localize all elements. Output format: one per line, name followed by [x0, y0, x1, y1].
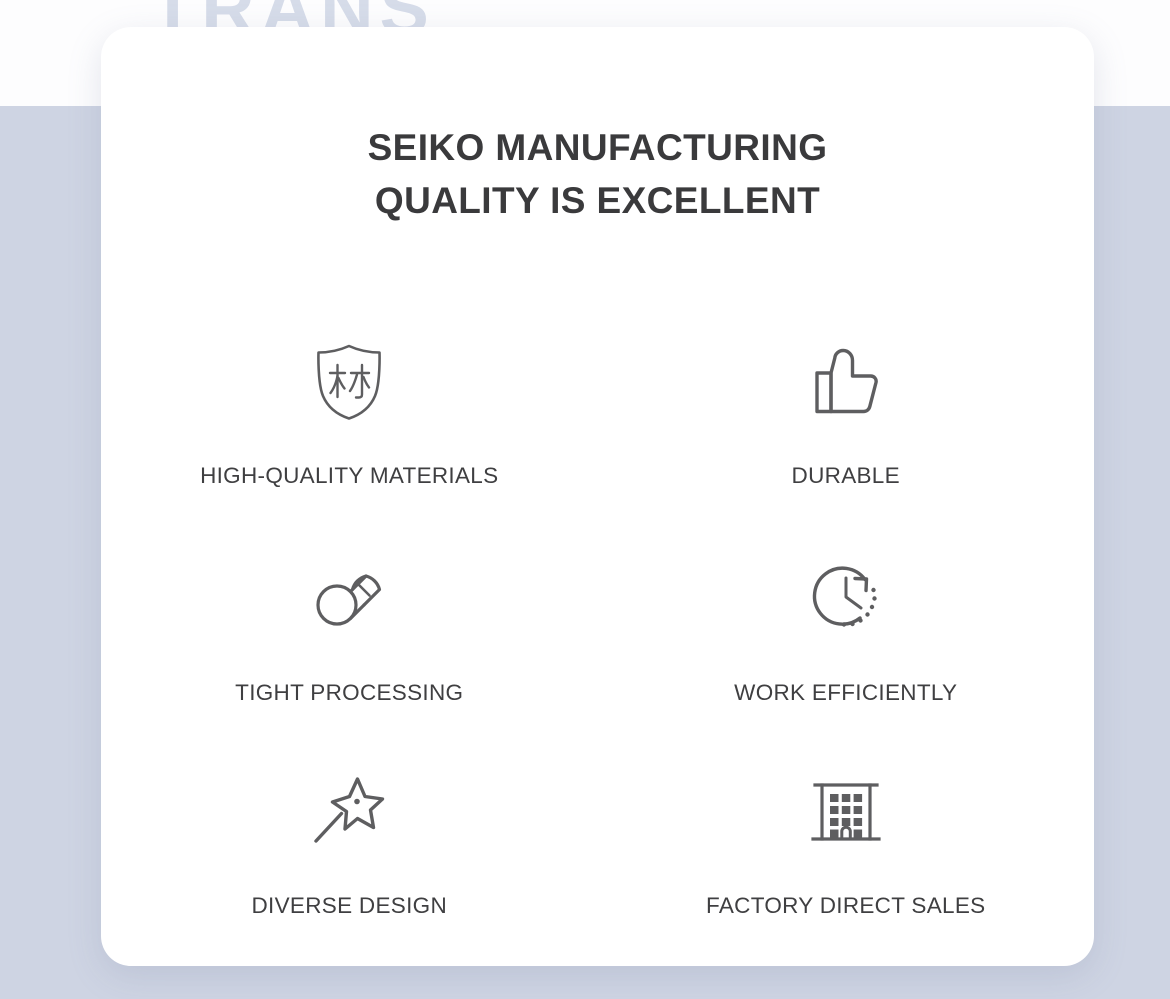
feature-item-high-quality-materials[interactable]: HIGH-QUALITY MATERIALS — [101, 327, 598, 542]
feature-label: TIGHT PROCESSING — [235, 680, 463, 706]
feature-grid: HIGH-QUALITY MATERIALS DURABLE — [101, 327, 1094, 966]
feature-item-factory-direct-sales[interactable]: FACTORY DIRECT SALES — [598, 757, 1095, 966]
magic-wand-star-icon — [308, 771, 390, 853]
feature-label: HIGH-QUALITY MATERIALS — [200, 463, 498, 489]
cylinder-icon — [308, 556, 390, 638]
shield-material-icon — [308, 341, 390, 423]
feature-label: WORK EFFICIENTLY — [734, 680, 957, 706]
factory-building-icon — [805, 771, 887, 853]
feature-item-work-efficiently[interactable]: WORK EFFICIENTLY — [598, 542, 1095, 757]
feature-item-durable[interactable]: DURABLE — [598, 327, 1095, 542]
feature-item-diverse-design[interactable]: DIVERSE DESIGN — [101, 757, 598, 966]
feature-label: DIVERSE DESIGN — [252, 893, 448, 919]
feature-card: SEIKO MANUFACTURING QUALITY IS EXCELLENT — [101, 27, 1094, 966]
feature-item-tight-processing[interactable]: TIGHT PROCESSING — [101, 542, 598, 757]
feature-label: DURABLE — [792, 463, 900, 489]
page-title: SEIKO MANUFACTURING QUALITY IS EXCELLENT — [101, 122, 1094, 227]
thumbs-up-icon — [805, 341, 887, 423]
clock-arrow-icon — [805, 556, 887, 638]
feature-label: FACTORY DIRECT SALES — [706, 893, 985, 919]
page-root: TRANS SEIKO MANUFACTURING QUALITY IS EXC… — [0, 0, 1170, 999]
